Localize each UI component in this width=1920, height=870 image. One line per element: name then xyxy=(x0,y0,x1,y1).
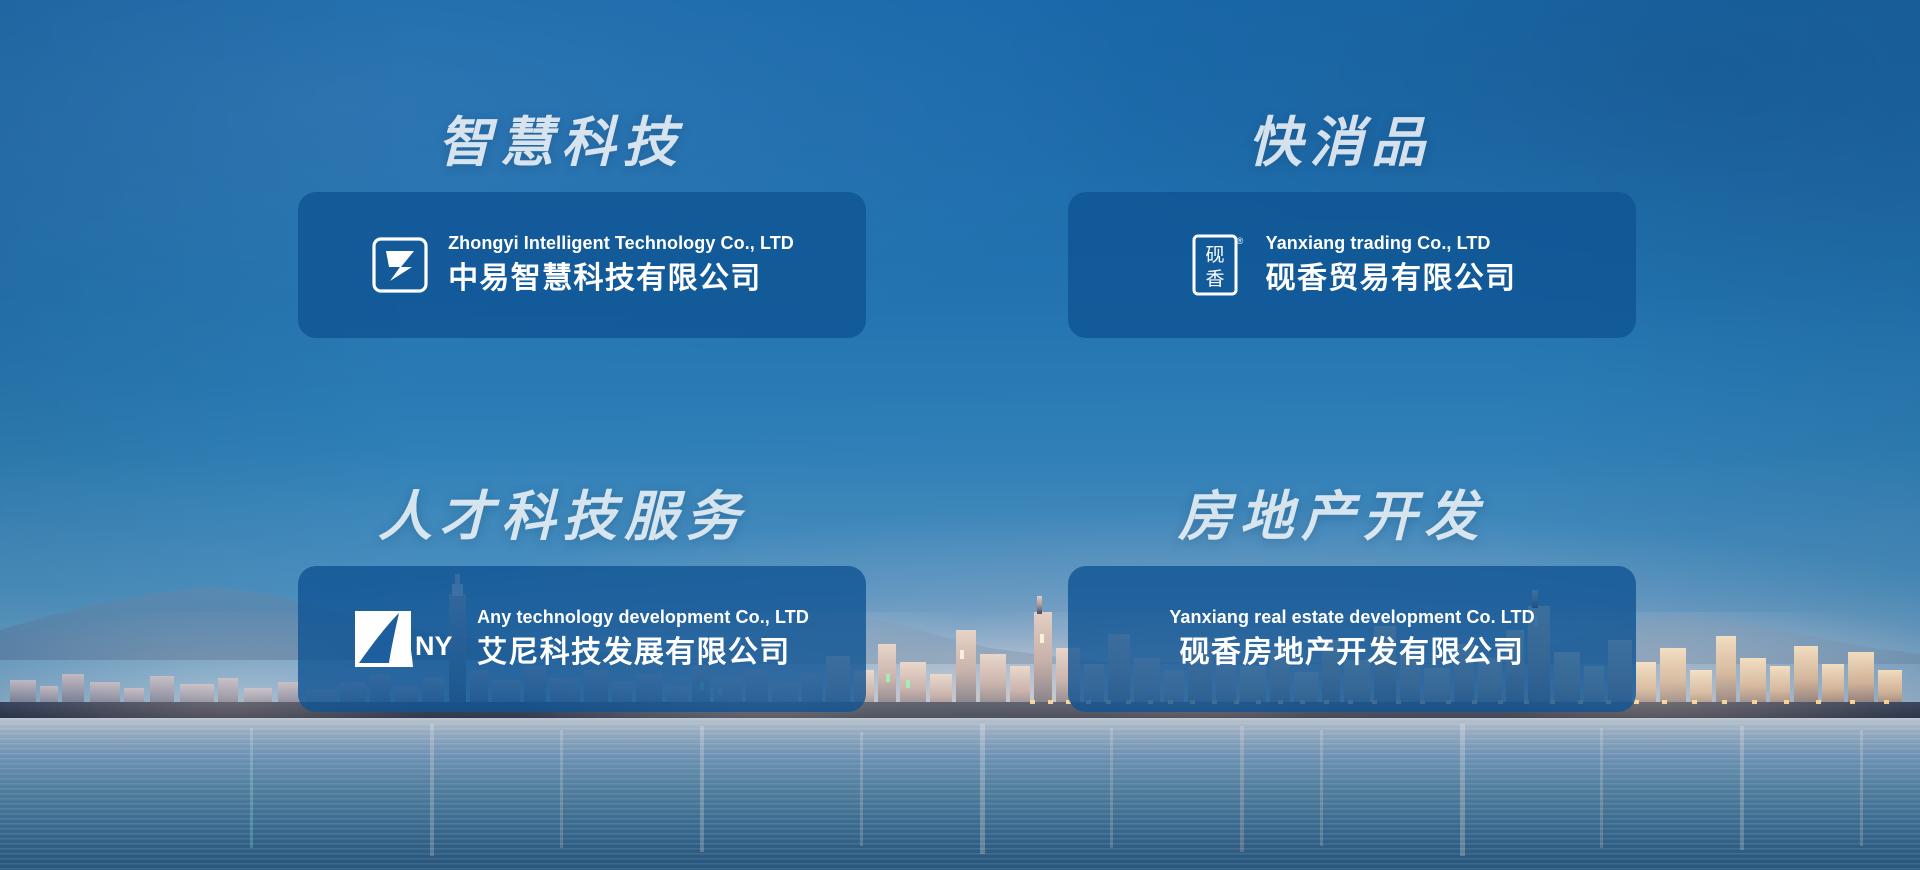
svg-text:砚: 砚 xyxy=(1205,244,1224,266)
sector-fmcg: 快消品 砚 香 ® Yanxiang trading Co., LTD 砚香贸易… xyxy=(1068,116,1636,338)
company-name-cn-zhongyi: 中易智慧科技有限公司 xyxy=(448,259,794,298)
company-name-en-yanxiang-real-estate: Yanxiang real estate development Co. LTD xyxy=(1169,606,1534,629)
svg-text:香: 香 xyxy=(1205,268,1224,290)
sector-heading-fmcg: 快消品 xyxy=(1068,116,1636,170)
company-name-cn-any-technology: 艾尼科技发展有限公司 xyxy=(477,633,809,672)
sector-real-estate-development: 房地产开发 Yanxiang real estate development C… xyxy=(1068,490,1636,712)
banner-stage: 智慧科技 Zhongyi Intelligent Technology Co.,… xyxy=(0,0,1920,870)
sector-talent-technology-services: 人才科技服务 NY Any technology development Co.… xyxy=(298,490,866,712)
company-name-block-any-technology: Any technology development Co., LTD 艾尼科技… xyxy=(477,606,809,672)
svg-text:®: ® xyxy=(1236,236,1243,246)
sector-heading-real-estate-development: 房地产开发 xyxy=(1068,490,1636,544)
company-name-en-zhongyi: Zhongyi Intelligent Technology Co., LTD xyxy=(448,232,794,255)
company-name-block-yanxiang-trading: Yanxiang trading Co., LTD 砚香贸易有限公司 xyxy=(1266,232,1517,298)
zhongyi-z-seal-logo-icon xyxy=(370,235,430,295)
sector-grid: 智慧科技 Zhongyi Intelligent Technology Co.,… xyxy=(0,0,1920,870)
sector-heading-talent-technology-services: 人才科技服务 xyxy=(298,490,866,544)
yanxiang-seal-logo-icon: 砚 香 ® xyxy=(1188,235,1248,295)
company-name-cn-yanxiang-trading: 砚香贸易有限公司 xyxy=(1266,259,1517,298)
company-name-block-zhongyi: Zhongyi Intelligent Technology Co., LTD … xyxy=(448,232,794,298)
company-name-cn-yanxiang-real-estate: 砚香房地产开发有限公司 xyxy=(1180,633,1525,672)
company-name-en-yanxiang-trading: Yanxiang trading Co., LTD xyxy=(1266,232,1517,255)
svg-text:NY: NY xyxy=(415,631,453,661)
company-card-zhongyi[interactable]: Zhongyi Intelligent Technology Co., LTD … xyxy=(298,192,866,338)
any-mountain-logo-icon: NY xyxy=(355,609,459,669)
sector-smart-technology: 智慧科技 Zhongyi Intelligent Technology Co.,… xyxy=(298,116,866,338)
company-card-yanxiang-trading[interactable]: 砚 香 ® Yanxiang trading Co., LTD 砚香贸易有限公司 xyxy=(1068,192,1636,338)
company-card-any-technology[interactable]: NY Any technology development Co., LTD 艾… xyxy=(298,566,866,712)
company-card-yanxiang-real-estate[interactable]: Yanxiang real estate development Co. LTD… xyxy=(1068,566,1636,712)
sector-heading-smart-technology: 智慧科技 xyxy=(298,116,866,170)
company-name-block-yanxiang-real-estate: Yanxiang real estate development Co. LTD… xyxy=(1169,606,1534,672)
company-name-en-any-technology: Any technology development Co., LTD xyxy=(477,606,809,629)
